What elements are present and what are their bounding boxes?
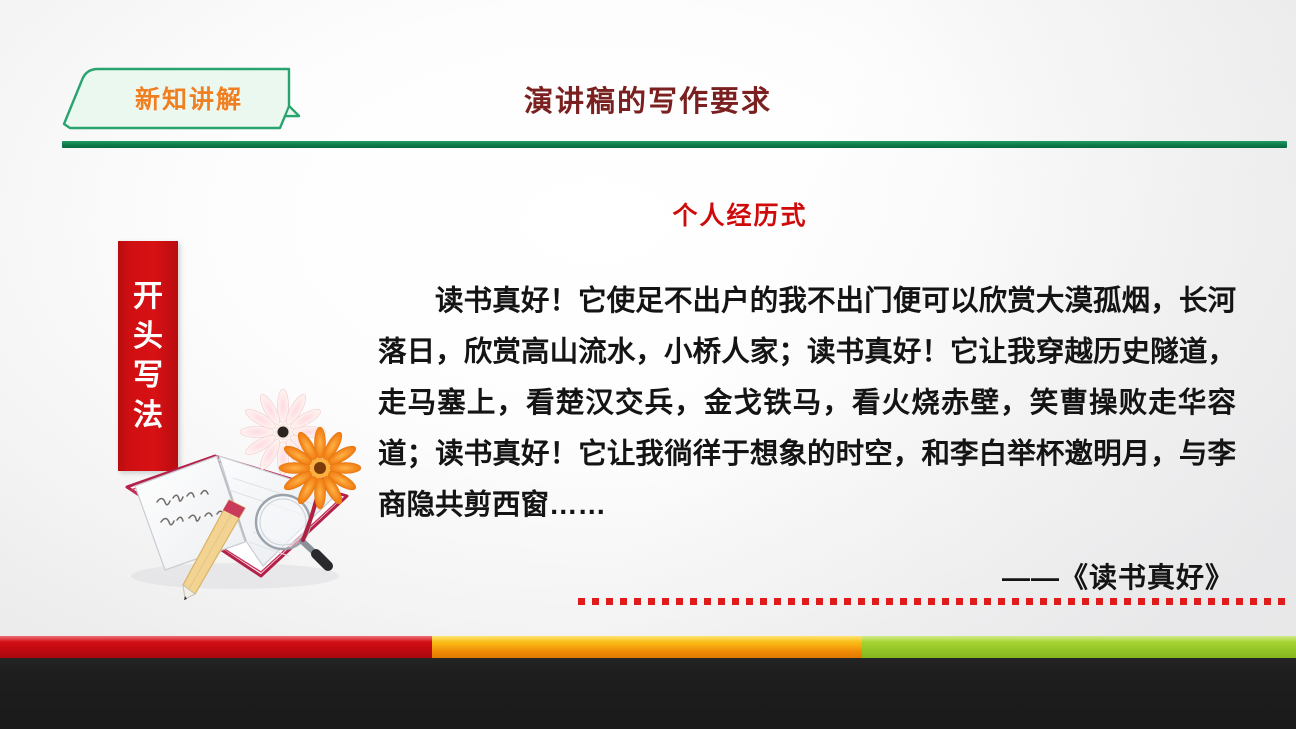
vertical-tag-char-2: 头 bbox=[133, 321, 163, 353]
vertical-tag-char-1: 开 bbox=[133, 281, 163, 313]
body-paragraph: 读书真好！它使足不出户的我不出门便可以欣赏大漠孤烟，长河落日，欣赏高山流水，小桥… bbox=[378, 276, 1236, 531]
footer-bar-red bbox=[0, 636, 432, 658]
page-title: 演讲稿的写作要求 bbox=[0, 78, 1296, 120]
footer-dark-band bbox=[0, 652, 1296, 729]
header-divider bbox=[62, 141, 1287, 148]
footer-bar-orange bbox=[432, 636, 862, 658]
slide-canvas: 新知讲解 演讲稿的写作要求 个人经历式 开 头 写 法 bbox=[0, 0, 1296, 729]
attribution-line: ——《读书真好》 bbox=[1002, 556, 1234, 596]
footer-bar-green bbox=[862, 636, 1296, 658]
notebook-shadow bbox=[131, 563, 339, 589]
subtitle: 个人经历式 bbox=[380, 196, 1100, 232]
dotted-divider bbox=[578, 598, 1288, 605]
notebook-illustration bbox=[113, 380, 361, 603]
